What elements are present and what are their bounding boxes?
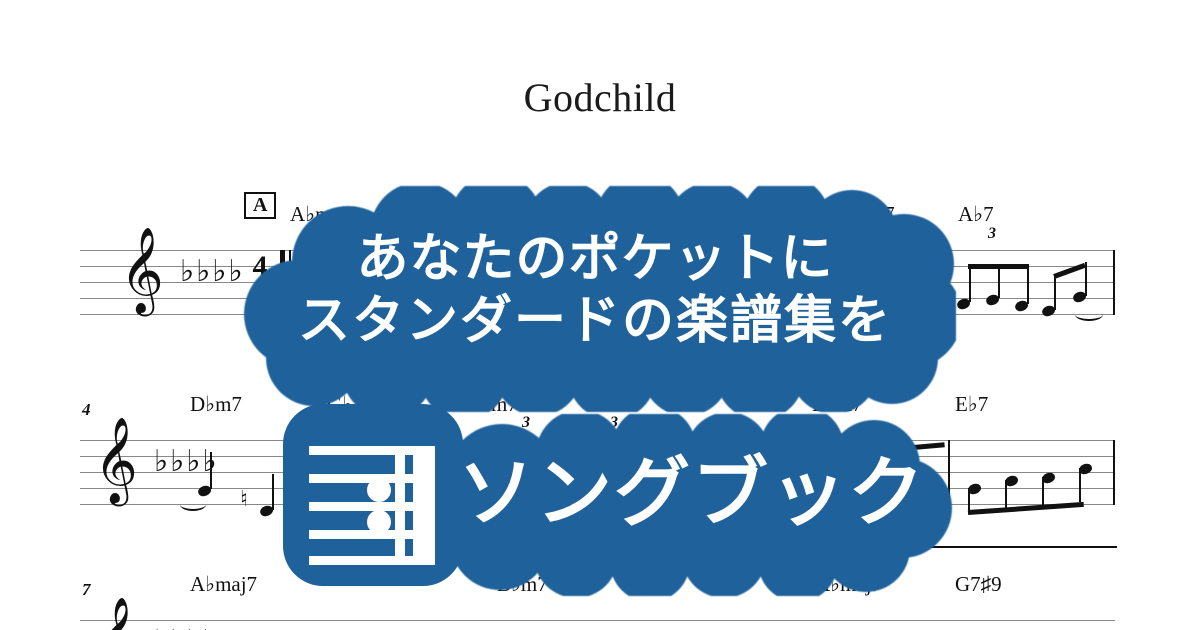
promo-overlay: あなたのポケットに スタンダードの楽譜集を ソングブック [0, 0, 1200, 630]
songbook-logo-icon [283, 404, 463, 586]
brand-name: ソングブック [452, 450, 932, 536]
promo-banner: Godchild 𝄞 ♭♭♭♭ 290 4 4 A A♭maj7 B♭m7 B [0, 0, 1200, 630]
tagline: あなたのポケットに スタンダードの楽譜集を [250, 228, 940, 352]
tagline-line-1: あなたのポケットに [250, 228, 940, 290]
tagline-line-2: スタンダードの楽譜集を [250, 290, 940, 352]
